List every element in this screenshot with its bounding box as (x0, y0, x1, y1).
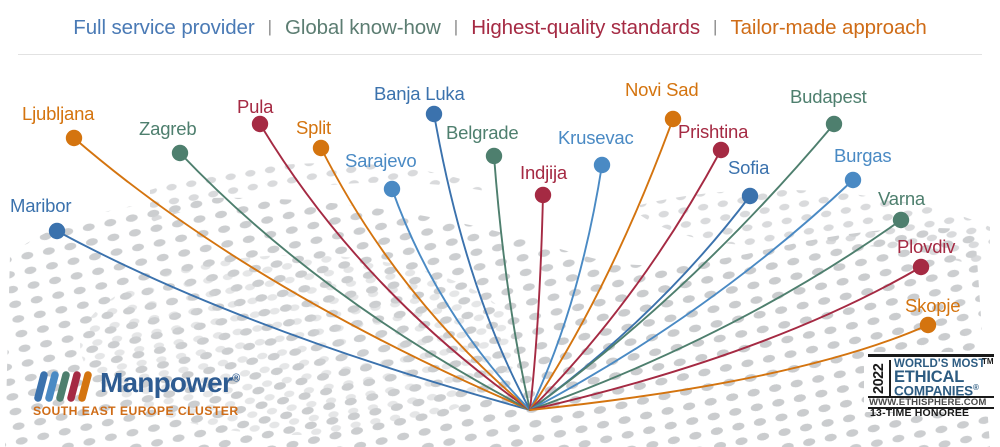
city-dot-varna[interactable] (893, 212, 909, 228)
badge-top-rule (868, 354, 994, 357)
city-dot-skopje[interactable] (920, 317, 936, 333)
city-label-zagreb[interactable]: Zagreb (139, 120, 196, 139)
city-label-prishtina[interactable]: Prishtina (678, 123, 748, 142)
tagline-separator: | (441, 17, 471, 37)
city-label-plovdiv[interactable]: Plovdiv (897, 238, 955, 257)
manpower-logo: Manpower® SOUTH EAST EUROPE CLUSTER (32, 366, 262, 422)
city-dot-belgrade[interactable] (486, 148, 502, 164)
tagline-separator: | (700, 17, 730, 37)
tagline-bar: Full service provider|Global know-how|Hi… (0, 0, 1000, 55)
city-dot-sofia[interactable] (742, 188, 758, 204)
city-label-sarajevo[interactable]: Sarajevo (345, 152, 416, 171)
manpower-wordmark: Manpower® (100, 369, 239, 397)
tagline-full-service-provider: Full service provider (73, 16, 254, 40)
city-dot-split[interactable] (313, 140, 329, 156)
city-dot-ljubljana[interactable] (66, 130, 82, 146)
city-dot-pula[interactable] (252, 116, 268, 132)
city-label-indjija[interactable]: Indjija (520, 164, 567, 183)
badge-vertical-divider (889, 360, 891, 397)
city-dot-budapest[interactable] (826, 116, 842, 132)
ethisphere-badge: 2022 WORLD'S MOST TM ETHICAL COMPANIES® … (864, 352, 998, 412)
city-label-belgrade[interactable]: Belgrade (446, 124, 518, 143)
city-label-krusevac[interactable]: Krusevac (558, 129, 634, 148)
manpower-wordmark-text: Manpower (100, 367, 232, 398)
city-dot-indjija[interactable] (535, 187, 551, 203)
city-dot-sarajevo[interactable] (384, 181, 400, 197)
city-label-ljubljana[interactable]: Ljubljana (22, 105, 94, 124)
city-dot-krusevac[interactable] (594, 157, 610, 173)
tagline-separator: | (255, 17, 285, 37)
city-label-burgas[interactable]: Burgas (834, 147, 891, 166)
city-label-pula[interactable]: Pula (237, 98, 273, 117)
trademark-mark: TM (982, 357, 994, 366)
infographic-canvas: Full service provider|Global know-how|Hi… (0, 0, 1000, 447)
manpower-subtitle: SOUTH EAST EUROPE CLUSTER (33, 405, 239, 417)
city-dot-burgas[interactable] (845, 172, 861, 188)
city-label-varna[interactable]: Varna (878, 190, 925, 209)
city-dot-prishtina[interactable] (713, 142, 729, 158)
city-label-novi-sad[interactable]: Novi Sad (625, 81, 698, 100)
city-dot-plovdiv[interactable] (913, 259, 929, 275)
manpower-logo-mark (32, 368, 94, 402)
city-dot-zagreb[interactable] (172, 145, 188, 161)
badge-registered-mark: ® (973, 383, 979, 392)
badge-year: 2022 (871, 360, 887, 397)
registered-mark: ® (232, 373, 239, 385)
city-label-sofia[interactable]: Sofia (728, 159, 769, 178)
tagline-tailor-made-approach: Tailor-made approach (730, 16, 926, 40)
city-label-maribor[interactable]: Maribor (10, 197, 71, 216)
city-label-skopje[interactable]: Skopje (905, 297, 960, 316)
city-dot-maribor[interactable] (49, 223, 65, 239)
tagline-highest-quality-standards: Highest-quality standards (471, 16, 700, 40)
badge-honoree: 13-TIME HONOREE (870, 408, 969, 419)
city-dot-banja-luka[interactable] (426, 106, 442, 122)
city-label-split[interactable]: Split (296, 119, 331, 138)
city-label-budapest[interactable]: Budapest (790, 88, 867, 107)
city-label-banja-luka[interactable]: Banja Luka (374, 85, 465, 104)
tagline-global-know-how: Global know-how (285, 16, 441, 40)
